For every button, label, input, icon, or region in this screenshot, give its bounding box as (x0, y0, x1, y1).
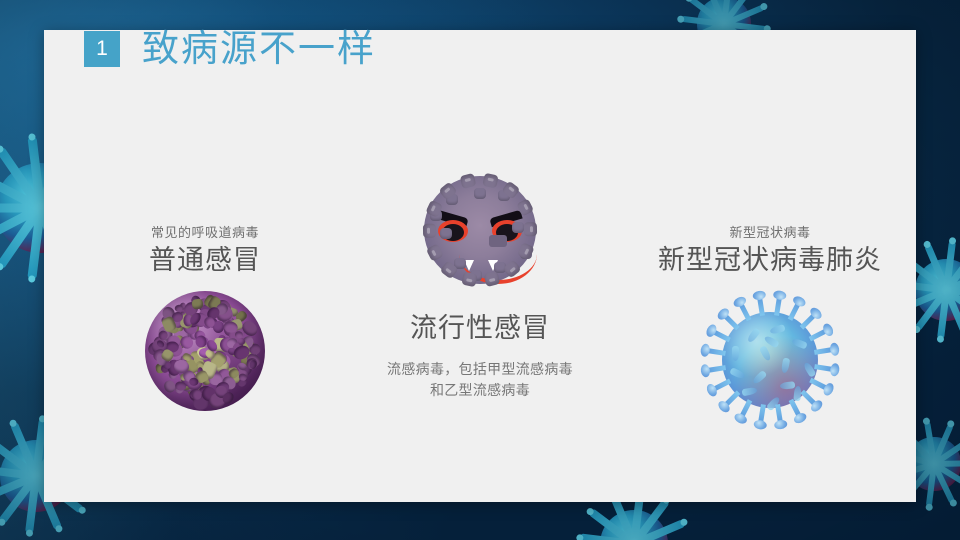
section-number-badge: 1 (84, 31, 120, 67)
coronavirus-inner-spike (741, 387, 757, 397)
flu-virus-surface-dot (512, 222, 524, 233)
virus-capsid-bump (189, 377, 199, 386)
rhinovirus-sphere-image (145, 291, 265, 411)
common-cold-caption-small: 常见的呼吸道病毒 (60, 224, 350, 244)
title-row: 1 致病源不一样 (84, 30, 376, 67)
coronavirus-image (695, 285, 845, 435)
influenza-title: 流行性感冒 (340, 312, 620, 346)
column-covid: 新型冠状病毒 新型冠状病毒肺炎 (620, 224, 920, 435)
page-title: 致病源不一样 (142, 30, 376, 67)
coronavirus-inner-spike (729, 367, 746, 380)
coronavirus-inner-spike (752, 370, 768, 385)
flu-virus-surface-dot (474, 188, 486, 199)
slide-root: 1 致病源不一样 常见的呼吸道病毒 普通感冒 流行性感冒 流感病毒，包括甲型流感… (0, 0, 960, 540)
covid-title: 新型冠状病毒肺炎 (620, 244, 920, 278)
cartoon-flu-virus-image (406, 160, 554, 300)
covid-caption-small: 新型冠状病毒 (620, 224, 920, 244)
column-common-cold: 常见的呼吸道病毒 普通感冒 (60, 224, 350, 411)
influenza-description: 流感病毒，包括甲型流感病毒和乙型流感病毒 (380, 360, 580, 403)
coronavirus-inner-spike (746, 328, 761, 344)
coronavirus-inner-spike (769, 324, 785, 335)
coronavirus-inner-spike (759, 345, 772, 362)
column-influenza: 流行性感冒 流感病毒，包括甲型流感病毒和乙型流感病毒 (340, 160, 620, 403)
coronavirus-inner-spike (732, 346, 739, 361)
flu-virus-surface-dot (440, 228, 452, 239)
coronavirus-inner-spike (780, 381, 796, 390)
coronavirus-inner-spike (781, 358, 790, 374)
virus-capsid-bump (195, 335, 207, 348)
coronavirus-inner-spike (791, 338, 808, 350)
common-cold-title: 普通感冒 (60, 244, 350, 278)
